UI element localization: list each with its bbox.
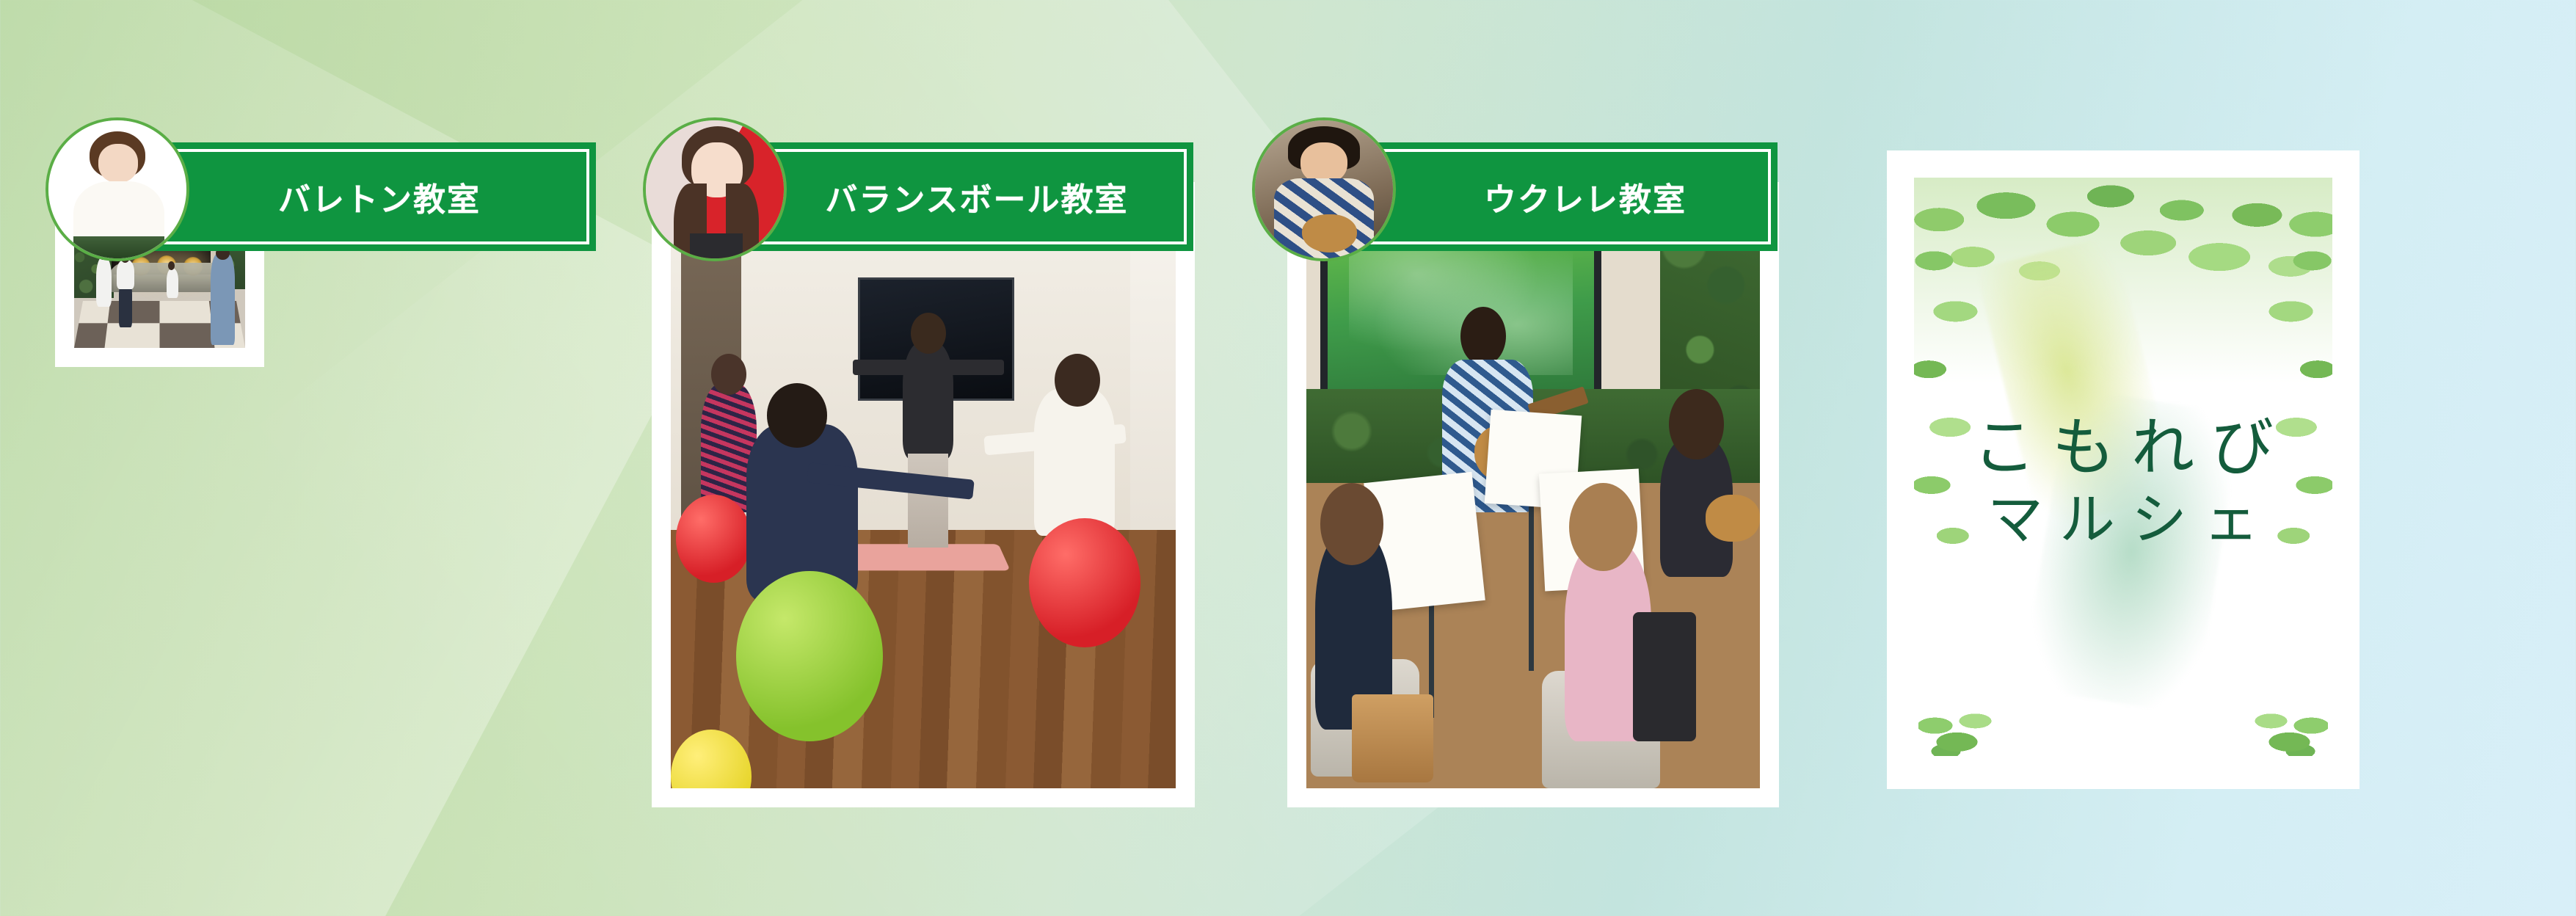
instructor-legs (908, 454, 948, 548)
instructor-avatar-ukulele[interactable] (1252, 117, 1396, 261)
avatar-image (48, 120, 186, 258)
logo-title-line1: こもれび (1914, 411, 2332, 485)
person-head (1460, 307, 1506, 366)
avatar-skirt (73, 236, 164, 261)
logo-card-komorebi-marche[interactable]: こもれび マルシェ (1887, 150, 2359, 789)
person-figure (167, 269, 178, 298)
backpack-decor (1633, 612, 1697, 741)
photo-scene-ukulele (1306, 201, 1760, 788)
music-stand-pole (1529, 506, 1534, 671)
banner-stage: バレトン教室 (0, 0, 2576, 916)
person-figure (211, 254, 235, 345)
outstretched-arms (853, 360, 1004, 375)
person-head (1669, 389, 1723, 459)
logo-title-line2: マルシェ (1914, 486, 2332, 554)
avatar-top (690, 233, 742, 261)
avatar-image (646, 120, 784, 258)
avatar-face (98, 144, 139, 183)
class-label-text: ウクレレ教室 (1419, 173, 1687, 220)
person-head (1569, 483, 1637, 571)
person-head (911, 313, 946, 354)
person-figure (96, 257, 112, 307)
person-head (767, 383, 828, 448)
handbag-decor (1352, 694, 1433, 782)
person-figure (117, 260, 134, 289)
class-card-balanceball[interactable] (652, 182, 1195, 807)
class-label-banner-ukulele[interactable]: ウクレレ教室 (1328, 142, 1778, 251)
class-label-text: バランスボール教室 (760, 173, 1128, 220)
person-head (1055, 354, 1100, 407)
leaf-border-bottom-left-decor (1918, 639, 2010, 756)
leaf-border-bottom-right-decor (2236, 639, 2328, 756)
ukulele-icon (1706, 495, 1760, 542)
balance-ball-green (736, 571, 883, 741)
instructor-avatar-balanceball[interactable] (643, 117, 787, 261)
instructor-avatar-baleton[interactable] (46, 117, 189, 261)
logo-card-inner: こもれび マルシェ (1914, 178, 2332, 762)
logo-title: こもれび マルシェ (1914, 411, 2332, 553)
class-photo-ukulele (1306, 201, 1760, 788)
avatar-image (1255, 120, 1393, 258)
person-head (711, 354, 746, 395)
balance-ball-red (676, 495, 752, 583)
class-photo-balanceball (671, 201, 1176, 788)
photo-scene-balanceball (671, 201, 1176, 788)
yoga-mat-decor (831, 544, 1011, 570)
class-label-text: バレトン教室 (214, 173, 481, 220)
class-card-ukulele[interactable] (1287, 182, 1779, 807)
participant-figure (1034, 389, 1115, 536)
person-head (1320, 483, 1384, 565)
balance-ball-red (1029, 518, 1140, 647)
